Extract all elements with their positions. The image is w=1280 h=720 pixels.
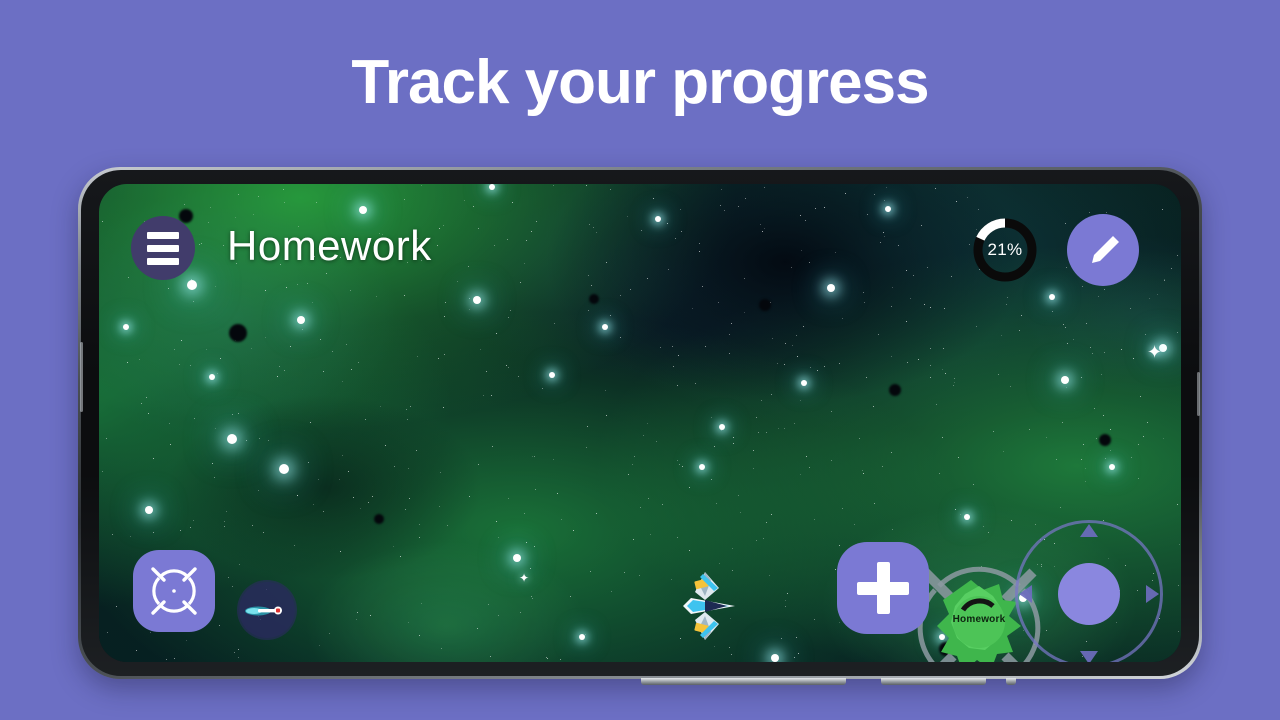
star-sparkle: ✦ bbox=[519, 572, 529, 584]
progress-ring-label: 21% bbox=[971, 216, 1039, 284]
star-bright bbox=[699, 464, 705, 470]
star-bright bbox=[359, 206, 367, 214]
star-bright bbox=[279, 464, 289, 474]
star-bright bbox=[885, 206, 891, 212]
star-bright bbox=[489, 184, 495, 190]
star-bright bbox=[801, 380, 807, 386]
star-bright bbox=[771, 654, 779, 662]
star-bright bbox=[187, 280, 197, 290]
star-sparkle: ✦ bbox=[1147, 343, 1162, 361]
space-void bbox=[229, 324, 247, 342]
phone-bottom-edge-button-3 bbox=[1006, 678, 1016, 685]
space-void bbox=[759, 299, 771, 311]
target-button[interactable] bbox=[133, 550, 215, 632]
promo-screenshot: Track your progress ✦✦✦ bbox=[0, 0, 1280, 720]
radar-ship-icon bbox=[238, 581, 296, 639]
joystick-right-arrow-icon[interactable] bbox=[1146, 585, 1159, 603]
hamburger-icon-bar-1 bbox=[147, 232, 179, 239]
plus-icon-vertical bbox=[877, 562, 890, 614]
screen-title: Homework bbox=[227, 222, 432, 270]
space-void bbox=[889, 384, 901, 396]
star-bright bbox=[1109, 464, 1115, 470]
pencil-icon bbox=[1083, 230, 1123, 270]
star-bright bbox=[579, 634, 585, 640]
menu-button[interactable] bbox=[131, 216, 195, 280]
star-bright bbox=[123, 324, 129, 330]
star-bright bbox=[602, 324, 608, 330]
space-void bbox=[589, 294, 599, 304]
space-void bbox=[374, 514, 384, 524]
star-bright bbox=[297, 316, 305, 324]
joystick-left-arrow-icon[interactable] bbox=[1019, 585, 1032, 603]
star-bright bbox=[827, 284, 835, 292]
star-bright bbox=[209, 374, 215, 380]
star-bright bbox=[473, 296, 481, 304]
phone-bottom-edge-button-2 bbox=[881, 678, 986, 685]
edit-button[interactable] bbox=[1067, 214, 1139, 286]
star-bright bbox=[719, 424, 725, 430]
star-dots bbox=[99, 184, 100, 185]
space-void bbox=[1099, 434, 1111, 446]
joystick[interactable] bbox=[1015, 520, 1163, 662]
radar-button[interactable] bbox=[237, 580, 297, 640]
star-bright bbox=[145, 506, 153, 514]
progress-ring: 21% bbox=[971, 216, 1039, 284]
app-screen: ✦✦✦ bbox=[99, 184, 1181, 662]
joystick-up-arrow-icon[interactable] bbox=[1080, 524, 1098, 537]
hamburger-icon-bar-3 bbox=[147, 258, 179, 265]
phone-mockup: ✦✦✦ bbox=[78, 167, 1202, 679]
hamburger-icon-bar-2 bbox=[147, 245, 179, 252]
phone-bottom-edge-button-1 bbox=[641, 678, 846, 685]
page-title-headline: Track your progress bbox=[0, 52, 1280, 114]
star-bright bbox=[227, 434, 237, 444]
player-ship bbox=[665, 566, 757, 646]
star-bright bbox=[655, 216, 661, 222]
star-bright bbox=[549, 372, 555, 378]
phone-bezel: ✦✦✦ bbox=[81, 170, 1199, 676]
star-bright bbox=[1049, 294, 1055, 300]
joystick-knob[interactable] bbox=[1058, 563, 1120, 625]
joystick-down-arrow-icon[interactable] bbox=[1080, 651, 1098, 662]
star-bright bbox=[1061, 376, 1069, 384]
add-button[interactable] bbox=[837, 542, 929, 634]
star-bright bbox=[964, 514, 970, 520]
reticle-icon bbox=[146, 563, 202, 619]
star-bright bbox=[513, 554, 521, 562]
